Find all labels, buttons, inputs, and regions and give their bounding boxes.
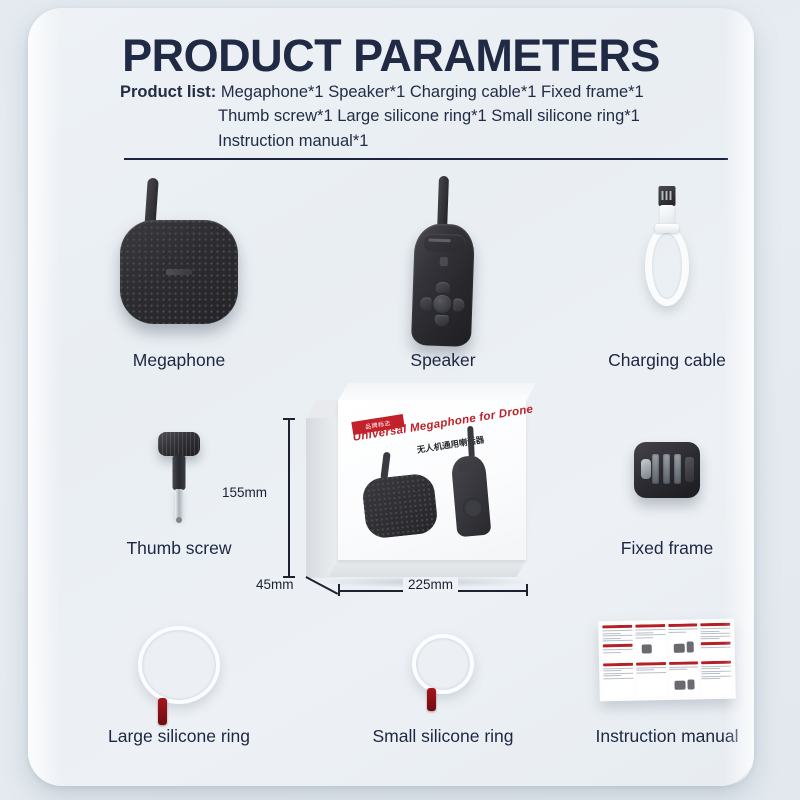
product-parameters-page: PRODUCT PARAMETERS Product list: Megapho… xyxy=(0,0,800,800)
item-megaphone: Megaphone xyxy=(70,168,288,383)
item-small-silicone-ring: Small silicone ring xyxy=(334,608,552,758)
bracket-body xyxy=(634,442,700,498)
dpad-up-button xyxy=(436,282,450,293)
ring-connector-tab xyxy=(158,698,167,725)
item-label-instruction-manual: Instruction manual xyxy=(558,726,776,747)
knurled-knob xyxy=(158,432,200,456)
mesh-body xyxy=(120,220,238,324)
ring-body xyxy=(138,626,220,704)
screw-shaft xyxy=(173,455,186,490)
item-speaker: Speaker xyxy=(334,168,552,383)
height-tick-top xyxy=(283,418,295,420)
page-title: PRODUCT PARAMETERS xyxy=(28,30,754,82)
box-top-panel xyxy=(338,383,536,401)
item-label-small-silicone-ring: Small silicone ring xyxy=(334,726,552,747)
item-label-speaker: Speaker xyxy=(334,350,552,371)
dpad-down-button xyxy=(435,315,449,326)
item-instruction-manual: Instruction manual xyxy=(558,596,776,756)
bracket-slot xyxy=(652,454,659,484)
box-title-cn: 无人机通用喇话器 xyxy=(416,433,485,455)
product-list-line-2: Thumb screw*1 Large silicone ring*1 Smal… xyxy=(120,104,720,128)
manual-sheet xyxy=(598,619,736,702)
item-label-large-silicone-ring: Large silicone ring xyxy=(70,726,288,747)
dpad-center-button xyxy=(433,295,452,314)
manual-panel xyxy=(635,624,665,659)
ring-connector-tab xyxy=(427,688,436,711)
box-front-panel: 品牌标志 Universal Megaphone for Drone 无人机通用… xyxy=(338,400,526,560)
item-large-silicone-ring: Large silicone ring xyxy=(70,608,288,758)
screw-tip xyxy=(175,489,183,519)
width-dimension-label: 225mm xyxy=(403,577,458,592)
ring-body xyxy=(412,634,474,694)
box-speaker-dpad xyxy=(462,497,484,519)
product-list-line-1: Megaphone*1 Speaker*1 Charging cable*1 F… xyxy=(221,83,644,101)
product-list: Product list: Megaphone*1 Speaker*1 Char… xyxy=(120,80,720,153)
indicator-icon xyxy=(440,257,448,266)
cable-tie xyxy=(655,224,679,233)
bracket-clamp xyxy=(641,459,651,479)
usb-connector-icon xyxy=(659,186,676,206)
bracket-slot xyxy=(663,454,670,484)
manual-panel xyxy=(701,660,731,695)
box-megaphone-icon xyxy=(361,472,439,539)
remote-top-panel xyxy=(423,233,466,252)
manual-panel xyxy=(603,662,633,697)
dpad-right-button xyxy=(453,298,464,311)
width-tick-right xyxy=(526,584,528,596)
box-bottom-panel xyxy=(329,560,526,577)
manual-panel xyxy=(602,625,632,660)
height-dimension-label: 155mm xyxy=(222,485,267,500)
bracket-slot xyxy=(674,454,681,484)
remote-body xyxy=(411,223,475,347)
manual-panel xyxy=(636,662,666,697)
bracket-tab xyxy=(685,457,694,482)
item-label-charging-cable: Charging cable xyxy=(558,350,776,371)
manual-panel xyxy=(668,623,698,658)
item-label-thumb-screw: Thumb screw xyxy=(70,538,288,559)
content-card: PRODUCT PARAMETERS Product list: Megapho… xyxy=(28,8,754,786)
box-speaker-top xyxy=(457,462,480,472)
box-side-panel xyxy=(306,418,339,578)
box-speaker-icon xyxy=(451,455,492,538)
cable-loop xyxy=(645,226,689,306)
product-list-label: Product list: xyxy=(120,83,216,101)
manual-panel xyxy=(669,661,699,696)
item-charging-cable: Charging cable xyxy=(558,168,776,383)
item-label-megaphone: Megaphone xyxy=(70,350,288,371)
height-dimension-line xyxy=(288,418,290,578)
header-divider xyxy=(124,158,728,160)
dpad-left-button xyxy=(420,297,431,310)
width-tick-left xyxy=(338,584,340,596)
package-box: 品牌标志 Universal Megaphone for Drone 无人机通用… xyxy=(280,390,600,605)
dpad-icon xyxy=(420,281,466,327)
box-speaker-antenna-icon xyxy=(467,426,475,458)
manual-panel xyxy=(700,623,730,658)
product-list-line-3: Instruction manual*1 xyxy=(120,129,720,153)
depth-dimension-label: 45mm xyxy=(256,577,294,592)
